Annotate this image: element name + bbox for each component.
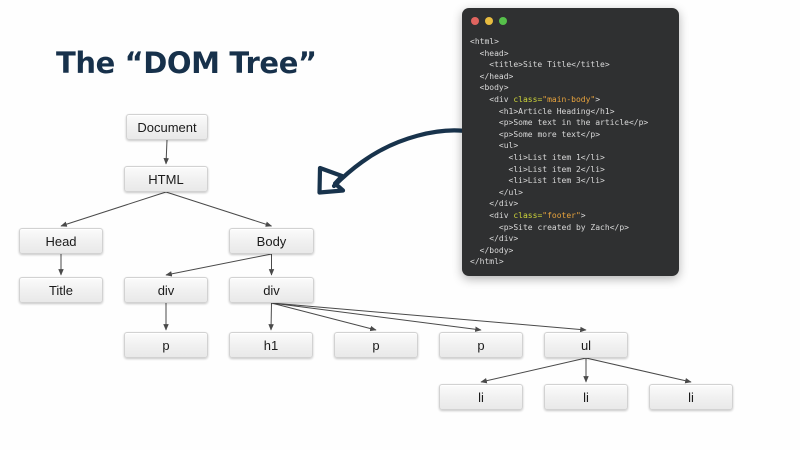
code-indent bbox=[470, 130, 499, 139]
code-indent bbox=[470, 165, 509, 174]
code-indent bbox=[470, 118, 499, 127]
code-token-text: Site created by Zach bbox=[513, 223, 609, 232]
tree-edge-div2-to-ul bbox=[272, 303, 587, 330]
tree-node-html: HTML bbox=[124, 166, 208, 192]
code-line: <head> bbox=[470, 48, 673, 60]
tree-node-label: Title bbox=[49, 283, 73, 298]
tree-node-label: Document bbox=[137, 120, 196, 135]
code-line: <title>Site Title</title> bbox=[470, 59, 673, 71]
code-indent bbox=[470, 83, 480, 92]
tree-node-label: li bbox=[583, 390, 589, 405]
code-line: <ul> bbox=[470, 140, 673, 152]
code-token-tag: <p> bbox=[499, 223, 513, 232]
tree-node-label: HTML bbox=[148, 172, 183, 187]
tree-node-label: Head bbox=[45, 234, 76, 249]
code-token-text: List item 3 bbox=[528, 176, 581, 185]
code-indent bbox=[470, 141, 499, 150]
tree-node-label: h1 bbox=[264, 338, 278, 353]
code-content: <html> <head> <title>Site Title</title> … bbox=[462, 34, 679, 276]
code-indent bbox=[470, 176, 509, 185]
code-indent bbox=[470, 95, 489, 104]
code-token-text: Site Title bbox=[523, 60, 571, 69]
code-token-tag: </div> bbox=[489, 234, 518, 243]
code-indent bbox=[470, 246, 480, 255]
close-dot-icon[interactable] bbox=[471, 17, 479, 25]
tree-node-head: Head bbox=[19, 228, 103, 254]
code-indent bbox=[470, 234, 489, 243]
tree-node-div1: div bbox=[124, 277, 208, 303]
tree-edge-html-to-head bbox=[61, 192, 166, 226]
code-token-tag: <html> bbox=[470, 37, 499, 46]
tree-node-p2: p bbox=[334, 332, 418, 358]
code-indent bbox=[470, 188, 499, 197]
slide-canvas: The “DOM Tree” DocumentHTMLHeadBodyTitle… bbox=[0, 0, 800, 450]
code-indent bbox=[470, 211, 489, 220]
code-line: <h1>Article Heading</h1> bbox=[470, 106, 673, 118]
code-token-val: "footer" bbox=[542, 211, 581, 220]
code-indent bbox=[470, 153, 509, 162]
code-token-tag: <p> bbox=[499, 130, 513, 139]
tree-node-h1: h1 bbox=[229, 332, 313, 358]
tree-edges bbox=[0, 0, 800, 450]
code-line: <body> bbox=[470, 82, 673, 94]
tree-node-label: p bbox=[162, 338, 169, 353]
tree-node-p1: p bbox=[124, 332, 208, 358]
code-token-text: Article Heading bbox=[518, 107, 590, 116]
tree-edge-ul-to-li3 bbox=[586, 358, 691, 382]
code-line: <li>List item 2</li> bbox=[470, 164, 673, 176]
code-token-tag: <ul> bbox=[499, 141, 518, 150]
code-line: <div class="main-body"> bbox=[470, 94, 673, 106]
code-token-val: "main-body" bbox=[542, 95, 595, 104]
tree-edge-body-to-div1 bbox=[166, 254, 272, 275]
tree-node-ul: ul bbox=[544, 332, 628, 358]
code-token-text: Some more text bbox=[513, 130, 580, 139]
tree-edge-div2-to-p2 bbox=[272, 303, 377, 330]
code-token-tag: <h1> bbox=[499, 107, 518, 116]
code-line: </html> bbox=[470, 256, 673, 268]
code-token-tag: </p> bbox=[629, 118, 648, 127]
code-token-tag: <li> bbox=[509, 165, 528, 174]
tree-node-document: Document bbox=[126, 114, 208, 140]
code-line: </div> bbox=[470, 233, 673, 245]
tree-node-label: p bbox=[372, 338, 379, 353]
tree-node-title: Title bbox=[19, 277, 103, 303]
code-token-tag: </html> bbox=[470, 257, 504, 266]
code-token-tag: > bbox=[595, 95, 600, 104]
code-token-tag: </head> bbox=[480, 72, 514, 81]
code-token-tag: </h1> bbox=[590, 107, 614, 116]
tree-node-label: Body bbox=[257, 234, 287, 249]
code-token-tag: </body> bbox=[480, 246, 514, 255]
tree-node-label: li bbox=[478, 390, 484, 405]
tree-node-div2: div bbox=[229, 277, 314, 303]
code-token-attr: class= bbox=[513, 95, 542, 104]
code-line: <p>Some more text</p> bbox=[470, 129, 673, 141]
code-token-tag: </p> bbox=[610, 223, 629, 232]
code-token-tag: > bbox=[581, 211, 586, 220]
minimize-dot-icon[interactable] bbox=[485, 17, 493, 25]
code-indent bbox=[470, 223, 499, 232]
tree-node-li2: li bbox=[544, 384, 628, 410]
tree-edge-ul-to-li1 bbox=[481, 358, 586, 382]
code-indent bbox=[470, 199, 489, 208]
code-token-text: List item 2 bbox=[528, 165, 581, 174]
code-token-tag: <title> bbox=[489, 60, 523, 69]
code-token-tag: <body> bbox=[480, 83, 509, 92]
dom-tree-diagram: DocumentHTMLHeadBodyTitledivdivph1ppulli… bbox=[0, 0, 800, 450]
code-line: <html> bbox=[470, 36, 673, 48]
tree-node-label: li bbox=[688, 390, 694, 405]
code-token-text: Some text in the article bbox=[513, 118, 629, 127]
code-token-tag: <p> bbox=[499, 118, 513, 127]
code-token-tag: </p> bbox=[581, 130, 600, 139]
code-token-tag: </li> bbox=[581, 176, 605, 185]
code-line: <div class="footer"> bbox=[470, 210, 673, 222]
code-token-attr: class= bbox=[513, 211, 542, 220]
code-line: </ul> bbox=[470, 187, 673, 199]
tree-node-label: div bbox=[158, 283, 175, 298]
tree-edge-div2-to-h1 bbox=[271, 303, 272, 330]
code-indent bbox=[470, 60, 489, 69]
code-window-titlebar bbox=[462, 8, 679, 34]
tree-node-label: div bbox=[263, 283, 280, 298]
code-line: </head> bbox=[470, 71, 673, 83]
code-token-tag: </title> bbox=[571, 60, 610, 69]
code-indent bbox=[470, 107, 499, 116]
code-line: </body> bbox=[470, 245, 673, 257]
code-line: <p>Some text in the article</p> bbox=[470, 117, 673, 129]
code-token-tag: <li> bbox=[509, 176, 528, 185]
code-line: <p>Site created by Zach</p> bbox=[470, 222, 673, 234]
code-token-text: List item 1 bbox=[528, 153, 581, 162]
code-line: </div> bbox=[470, 198, 673, 210]
code-window: <html> <head> <title>Site Title</title> … bbox=[462, 8, 679, 276]
code-token-tag: </li> bbox=[581, 165, 605, 174]
tree-node-p3: p bbox=[439, 332, 523, 358]
code-token-tag: </div> bbox=[489, 199, 518, 208]
tree-node-li1: li bbox=[439, 384, 523, 410]
maximize-dot-icon[interactable] bbox=[499, 17, 507, 25]
code-indent bbox=[470, 49, 480, 58]
code-token-tag: </li> bbox=[581, 153, 605, 162]
code-indent bbox=[470, 72, 480, 81]
code-line: <li>List item 3</li> bbox=[470, 175, 673, 187]
code-token-tag: </ul> bbox=[499, 188, 523, 197]
tree-edge-html-to-body bbox=[166, 192, 272, 226]
tree-node-label: p bbox=[477, 338, 484, 353]
code-token-tag: <head> bbox=[480, 49, 509, 58]
tree-edge-document-to-html bbox=[166, 140, 167, 164]
tree-node-label: ul bbox=[581, 338, 591, 353]
code-token-tag: <div bbox=[489, 211, 513, 220]
code-token-tag: <div bbox=[489, 95, 513, 104]
tree-node-body: Body bbox=[229, 228, 314, 254]
tree-node-li3: li bbox=[649, 384, 733, 410]
code-line: <li>List item 1</li> bbox=[470, 152, 673, 164]
code-token-tag: <li> bbox=[509, 153, 528, 162]
tree-edge-div2-to-p3 bbox=[272, 303, 482, 330]
